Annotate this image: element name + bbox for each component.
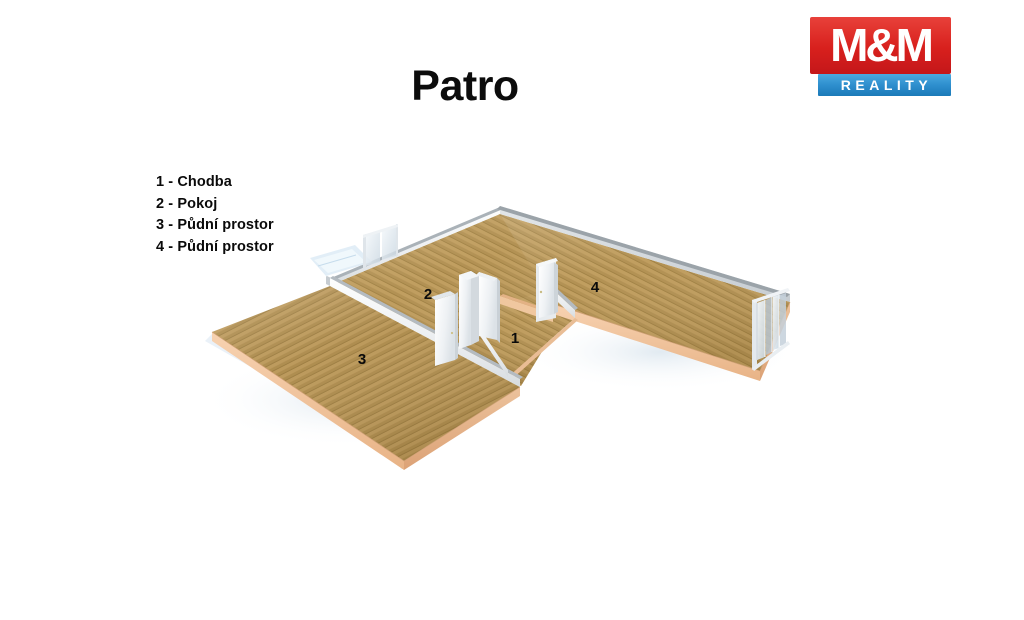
door-room1-room4[interactable] (536, 258, 558, 322)
room-label-3: 3 (358, 351, 366, 368)
partition-room2-pillar (459, 271, 479, 349)
partition-room2-fin (431, 291, 458, 366)
door-room1-room2[interactable] (476, 272, 500, 343)
room-label-2: 2 (424, 286, 432, 303)
floorplan-3d-view: 3 2 1 4 (0, 0, 1024, 620)
room-label-4: 4 (591, 279, 600, 296)
room-label-1: 1 (511, 330, 519, 347)
